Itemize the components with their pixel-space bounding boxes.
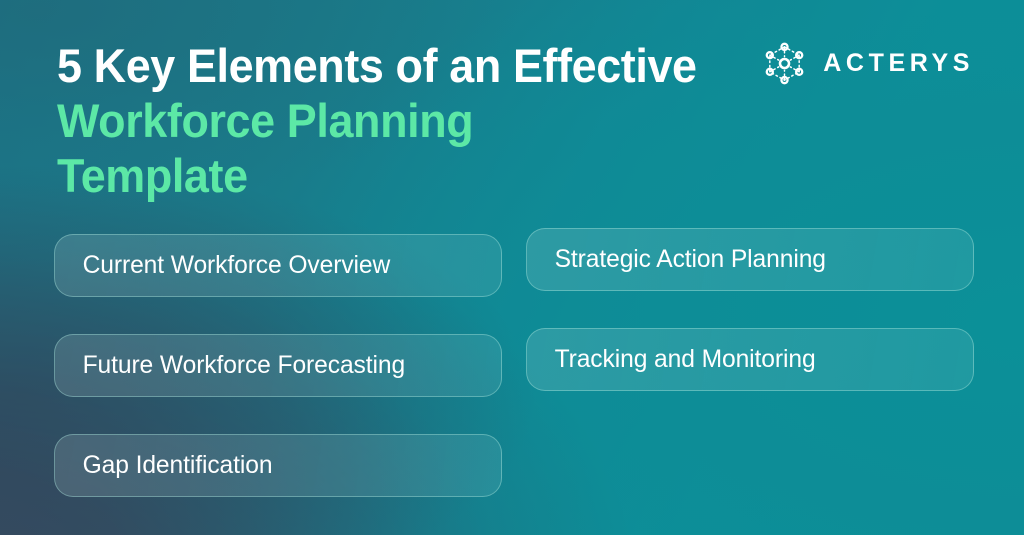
card-future-workforce-forecasting[interactable]: Future Workforce Forecasting: [54, 334, 502, 397]
card-label: Current Workforce Overview: [55, 253, 390, 278]
brand-logo: ACTERYS: [761, 40, 974, 87]
page-title: 5 Key Elements of an Effective Workforce…: [57, 38, 754, 203]
infographic-poster: ACTERYS 5 Key Elements of an Effective W…: [0, 0, 1024, 535]
card-tracking-and-monitoring[interactable]: Tracking and Monitoring: [526, 328, 974, 391]
card-label: Strategic Action Planning: [527, 247, 826, 272]
card-label: Tracking and Monitoring: [527, 347, 816, 372]
brand-wordmark: ACTERYS: [823, 51, 974, 76]
card-strategic-action-planning[interactable]: Strategic Action Planning: [526, 228, 974, 291]
title-line1: 5 Key Elements of an: [57, 39, 513, 92]
title-line2-accent: Workforce Planning: [57, 94, 473, 147]
card-label: Future Workforce Forecasting: [55, 353, 405, 378]
hexagon-network-icon: [761, 40, 808, 87]
title-line3-accent: Template: [57, 149, 248, 202]
card-gap-identification[interactable]: Gap Identification: [54, 434, 502, 497]
title-line2-plain: Effective: [513, 39, 697, 92]
card-label: Gap Identification: [55, 453, 272, 478]
card-current-workforce-overview[interactable]: Current Workforce Overview: [54, 234, 502, 297]
elements-card-grid: Current Workforce Overview Future Workfo…: [54, 234, 974, 497]
